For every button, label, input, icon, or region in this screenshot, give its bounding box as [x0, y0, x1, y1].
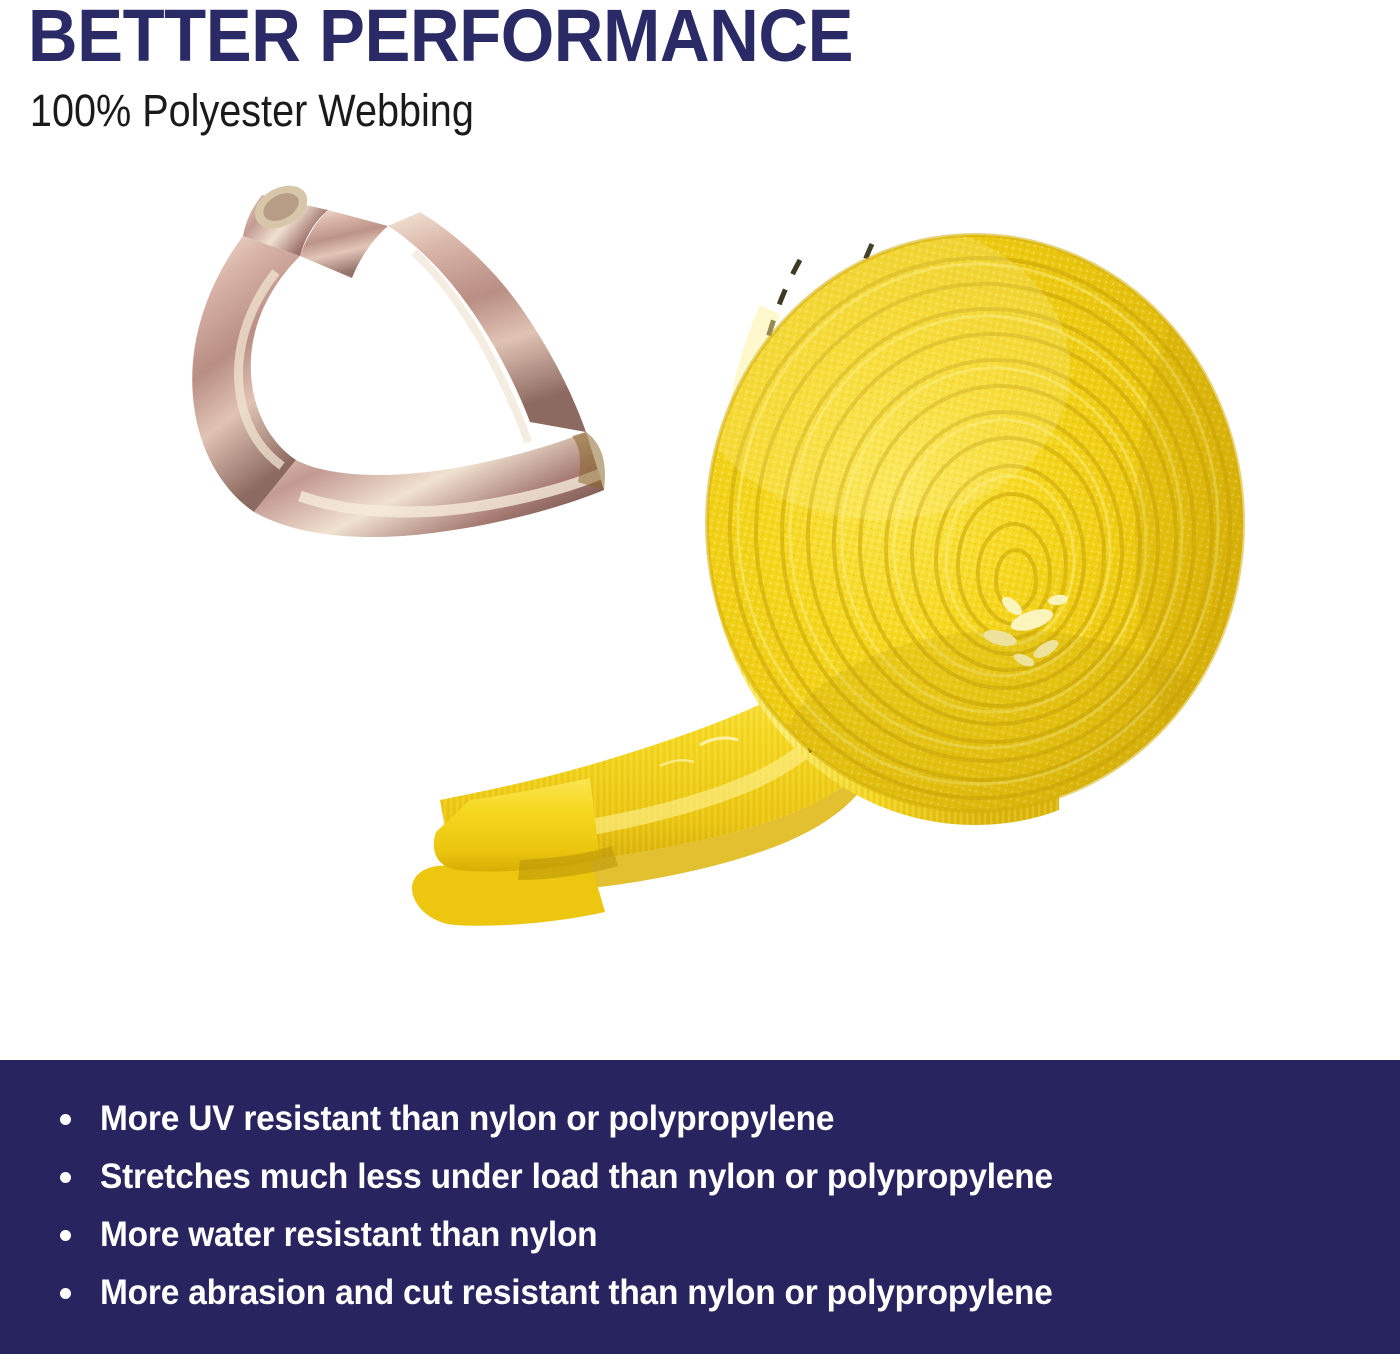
list-item: More UV resistant than nylon or polyprop… [0, 1090, 1400, 1148]
benefits-list: More UV resistant than nylon or polyprop… [0, 1090, 1400, 1322]
list-item-label: More abrasion and cut resistant than nyl… [100, 1264, 1053, 1322]
list-item-label: More UV resistant than nylon or polyprop… [100, 1090, 834, 1148]
bullet-dot-icon [60, 1114, 71, 1125]
bullet-dot-icon [60, 1172, 71, 1183]
header: BETTER PERFORMANCE 100% Polyester Webbin… [0, 0, 1400, 134]
product-image [0, 160, 1400, 1060]
list-item: More water resistant than nylon [0, 1206, 1400, 1264]
product-infographic: BETTER PERFORMANCE 100% Polyester Webbin… [0, 0, 1400, 1354]
benefits-panel: More UV resistant than nylon or polyprop… [0, 1060, 1400, 1354]
j-hook [192, 177, 605, 537]
list-item: More abrasion and cut resistant than nyl… [0, 1264, 1400, 1322]
list-item-label: More water resistant than nylon [100, 1206, 597, 1264]
list-item: Stretches much less under load than nylo… [0, 1148, 1400, 1206]
list-item-label: Stretches much less under load than nylo… [100, 1148, 1053, 1206]
page-title: BETTER PERFORMANCE [0, 0, 1302, 73]
bullet-dot-icon [60, 1288, 71, 1299]
bullet-dot-icon [60, 1230, 71, 1241]
page-subtitle: 100% Polyester Webbing [0, 73, 1232, 134]
product-illustration [0, 160, 1400, 1060]
